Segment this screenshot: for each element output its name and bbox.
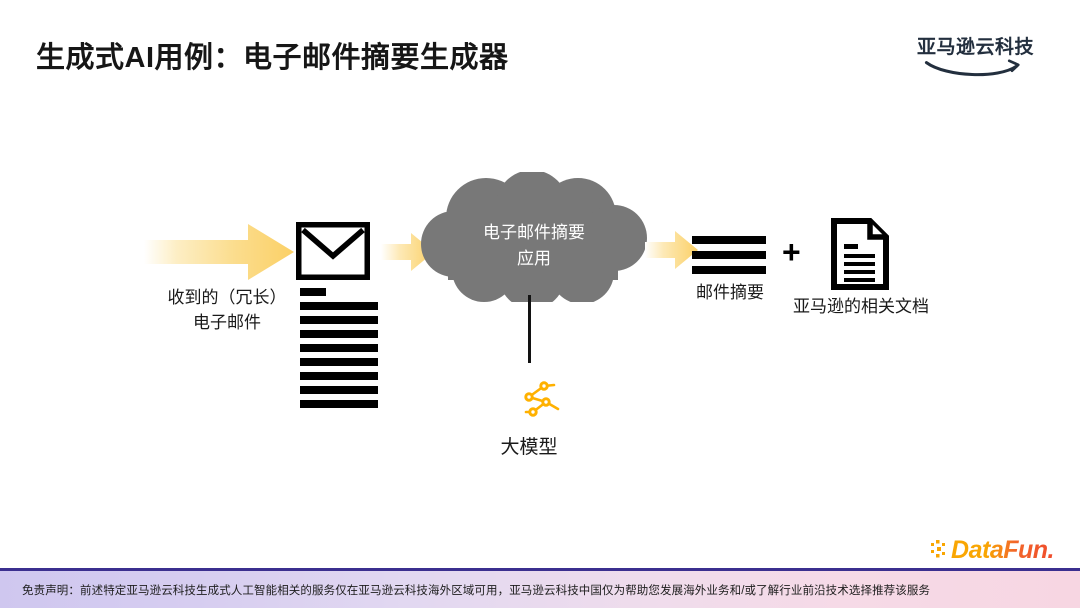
cloud-label-line1: 电子邮件摘要: [418, 220, 650, 246]
footer-bar: 免责声明：前述特定亚马逊云科技生成式人工智能相关的服务仅在亚马逊云科技海外区域可…: [0, 568, 1080, 608]
document-caption: 亚马逊的相关文档: [772, 292, 950, 317]
disclaimer-text: 免责声明：前述特定亚马逊云科技生成式人工智能相关的服务仅在亚马逊云科技海外区域可…: [22, 582, 930, 598]
llm-label: 大模型: [449, 432, 609, 459]
arrow-to-output: [645, 230, 699, 270]
email-line: [300, 386, 378, 394]
summary-line: [692, 251, 766, 259]
cloud-shape: 电子邮件摘要 应用: [418, 172, 650, 302]
neural-network-icon: [513, 378, 565, 420]
summary-line: [692, 236, 766, 244]
email-line: [300, 372, 378, 380]
input-caption: 收到的（冗长） 电子邮件: [148, 286, 306, 335]
input-caption-line1: 收到的（冗长）: [148, 286, 306, 311]
email-line: [300, 344, 378, 352]
email-line: [300, 330, 378, 338]
datafun-logo: DataFun.: [930, 536, 1054, 564]
plus-symbol: +: [782, 236, 801, 268]
email-line: [300, 400, 378, 408]
cloud-label-line2: 应用: [418, 246, 650, 272]
diagram-canvas: 收到的（冗长） 电子邮件: [0, 0, 1080, 560]
input-caption-line2: 电子邮件: [148, 311, 306, 336]
long-email-lines: [300, 288, 378, 414]
summary-bars: [692, 236, 766, 281]
cloud-label: 电子邮件摘要 应用: [418, 220, 650, 271]
email-line: [300, 302, 378, 310]
envelope-icon: [296, 222, 370, 280]
datafun-dots-icon: [930, 539, 950, 561]
document-icon: [830, 218, 890, 290]
datafun-wordmark: DataFun.: [951, 536, 1054, 565]
cloud-to-llm-connector: [528, 295, 531, 363]
summary-line: [692, 266, 766, 274]
email-line: [300, 316, 378, 324]
arrow-input: [144, 222, 296, 282]
email-line: [300, 358, 378, 366]
